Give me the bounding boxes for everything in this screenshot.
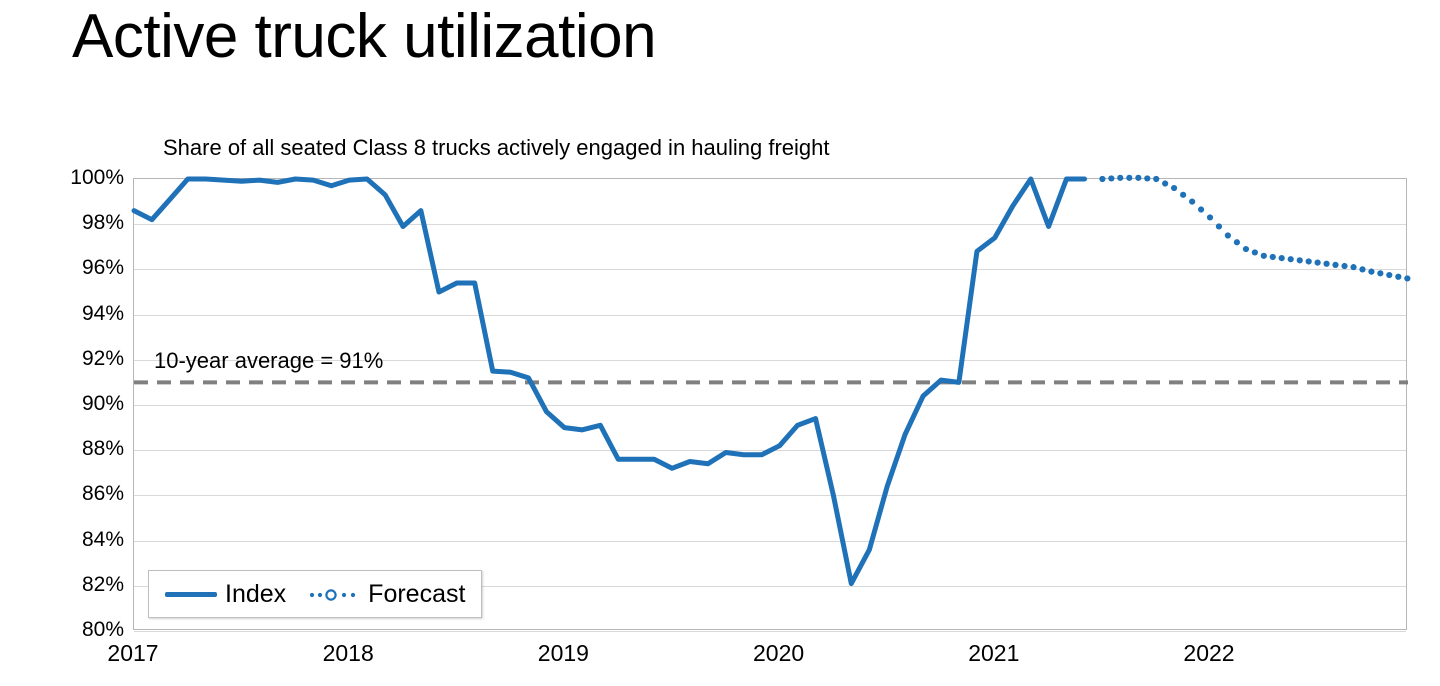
y-axis-tick-label: 98%	[46, 211, 124, 235]
forecast-dot	[1126, 175, 1132, 181]
chart-subtitle: Share of all seated Class 8 trucks activ…	[163, 135, 830, 161]
y-axis-tick-label: 86%	[46, 482, 124, 506]
x-axis-tick-label: 2022	[1183, 640, 1234, 667]
y-axis-tick-label: 84%	[46, 528, 124, 552]
x-axis: 201720182019202020212022	[133, 640, 1407, 680]
forecast-dot	[1225, 232, 1231, 238]
forecast-dot	[1323, 261, 1329, 267]
forecast-dot	[1198, 206, 1204, 212]
x-axis-tick-label: 2021	[968, 640, 1019, 667]
forecast-dot	[1350, 264, 1356, 270]
forecast-dot	[1332, 262, 1338, 268]
forecast-dot	[1288, 256, 1294, 262]
forecast-dot	[1404, 275, 1410, 281]
forecast-dot	[1108, 175, 1114, 181]
x-axis-tick-label: 2019	[538, 640, 589, 667]
forecast-dot	[1162, 180, 1168, 186]
forecast-dot	[1368, 269, 1374, 275]
forecast-dot	[1216, 223, 1222, 229]
forecast-dot	[1359, 266, 1365, 272]
forecast-dot	[1386, 272, 1392, 278]
forecast-dot	[1180, 192, 1186, 198]
average-annotation-label: 10-year average = 91%	[154, 348, 383, 374]
y-axis-tick-label: 92%	[46, 347, 124, 371]
forecast-dot	[1243, 246, 1249, 252]
forecast-dot	[1117, 175, 1123, 181]
forecast-dot	[1135, 175, 1141, 181]
chart-series-layer	[134, 179, 1408, 631]
y-axis-tick-label: 82%	[46, 573, 124, 597]
plot-area: 10-year average = 91%	[133, 178, 1407, 630]
legend-label-forecast: Forecast	[368, 580, 465, 609]
y-axis-tick-label: 88%	[46, 437, 124, 461]
legend-label-index: Index	[225, 580, 286, 609]
y-axis-tick-label: 90%	[46, 392, 124, 416]
forecast-dot	[1207, 214, 1213, 220]
x-axis-tick-label: 2017	[107, 640, 158, 667]
forecast-dot	[1234, 239, 1240, 245]
y-axis-tick-label: 96%	[46, 256, 124, 280]
forecast-dot	[1144, 175, 1150, 181]
x-axis-tick-label: 2018	[323, 640, 374, 667]
y-axis-tick-label: 94%	[46, 302, 124, 326]
forecast-dot	[1315, 260, 1321, 266]
forecast-series-dots	[1099, 175, 1410, 282]
legend-item-forecast[interactable]: Forecast	[308, 580, 465, 609]
forecast-dot	[1099, 176, 1105, 182]
forecast-dot	[1153, 176, 1159, 182]
forecast-dot	[1297, 257, 1303, 263]
forecast-dot	[1171, 185, 1177, 191]
legend-dotted-line-icon	[308, 588, 360, 600]
gridline	[134, 631, 1406, 632]
forecast-dot	[1395, 274, 1401, 280]
forecast-dot	[1377, 270, 1383, 276]
page-title: Active truck utilization	[72, 6, 656, 68]
forecast-dot	[1279, 255, 1285, 261]
forecast-dot	[1270, 254, 1276, 260]
legend-item-index[interactable]: Index	[165, 580, 286, 609]
forecast-dot	[1252, 249, 1258, 255]
forecast-dot	[1261, 253, 1267, 259]
forecast-dot	[1189, 199, 1195, 205]
forecast-dot	[1306, 258, 1312, 264]
chart-legend[interactable]: Index Forecast	[148, 570, 482, 618]
y-axis-tick-label: 100%	[46, 166, 124, 190]
y-axis-tick-label: 80%	[46, 618, 124, 642]
forecast-dot	[1341, 263, 1347, 269]
x-axis-tick-label: 2020	[753, 640, 804, 667]
y-axis: 100%98%96%94%92%90%88%86%84%82%80%	[44, 178, 124, 630]
legend-solid-line-icon	[165, 592, 217, 597]
